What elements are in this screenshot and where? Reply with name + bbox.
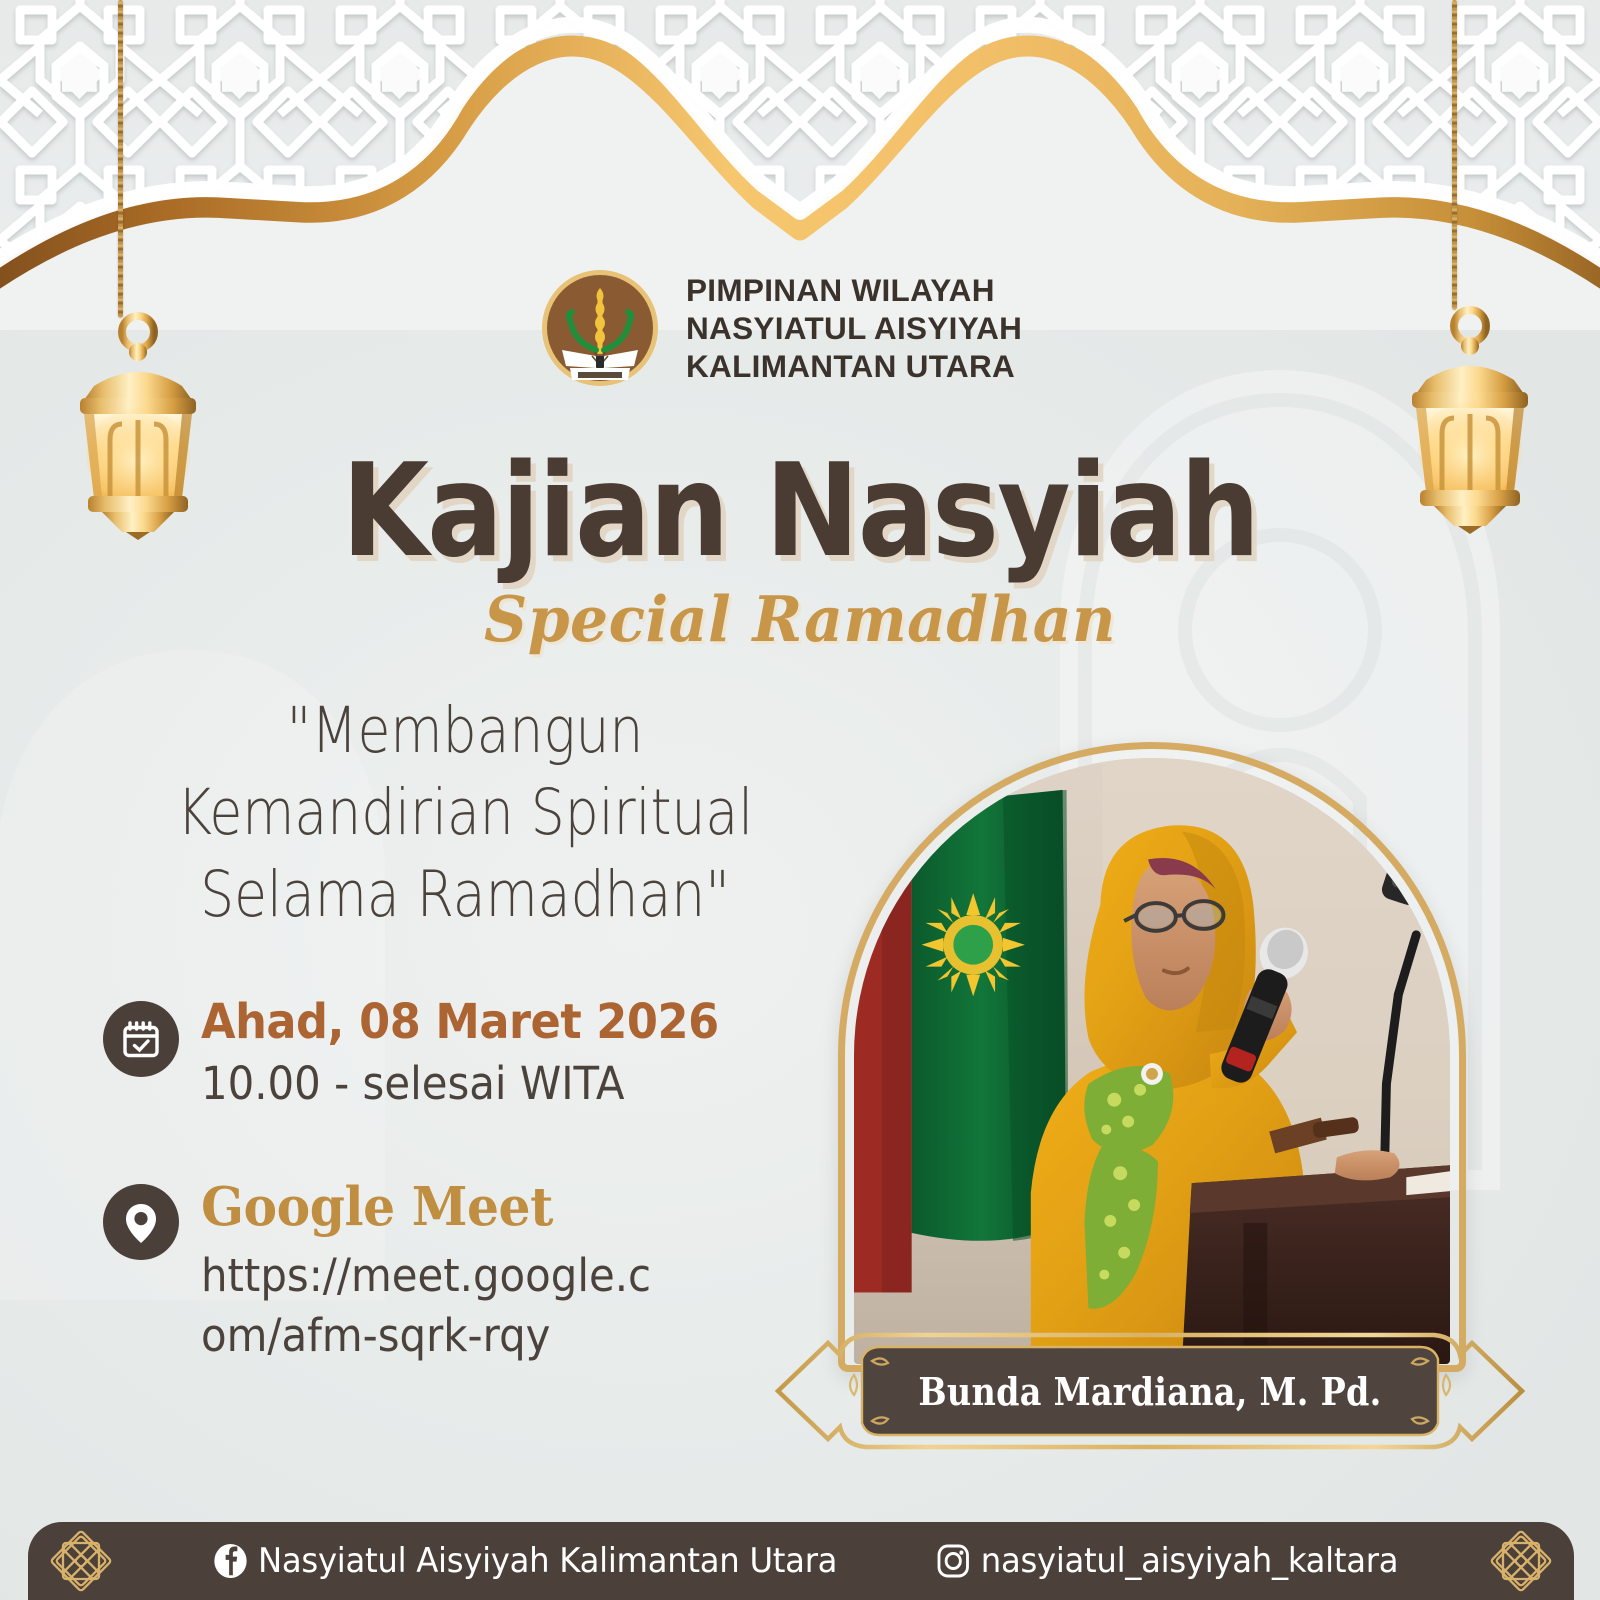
venue-text: Google Meet https://meet.google.c om/afm… [201, 1178, 685, 1367]
facebook-icon [212, 1542, 248, 1580]
organization-header: PIMPINAN WILAYAH NASYIATUL AISYIYAH KALI… [540, 268, 1022, 388]
poster-root: PIMPINAN WILAYAH NASYIATUL AISYIYAH KALI… [0, 0, 1600, 1600]
quote-line-2: Kemandirian Spiritual [121, 772, 810, 854]
headline-block: Kajian Nasyiah Special Ramadhan [0, 448, 1600, 656]
speaker-name: Bunda Mardiana, M. Pd. [816, 1325, 1485, 1457]
venue-url-line-1: https://meet.google.c [201, 1246, 651, 1307]
location-pin-icon [103, 1184, 179, 1260]
pin-glyph [121, 1199, 161, 1245]
event-theme-quote: "Membangun Kemandirian Spiritual Selama … [121, 690, 810, 936]
organization-name: PIMPINAN WILAYAH NASYIATUL AISYIYAH KALI… [686, 271, 1022, 385]
venue-row: Google Meet https://meet.google.c om/afm… [103, 1178, 803, 1367]
calendar-glyph [119, 1017, 163, 1061]
event-subtitle: Special Ramadhan [40, 582, 1560, 656]
instagram-handle: nasyiatul_aisyiyah_kaltara [980, 1541, 1397, 1581]
event-title: Kajian Nasyiah [96, 448, 1504, 576]
eight-point-rosette-right-icon [1490, 1530, 1552, 1592]
event-date: Ahad, 08 Maret 2026 [201, 997, 719, 1049]
venue-url[interactable]: https://meet.google.c om/afm-sqrk-rqy [201, 1246, 651, 1368]
venue-url-line-2: om/afm-sqrk-rqy [201, 1306, 651, 1367]
quote-line-1: "Membangun [121, 690, 810, 772]
facebook-link[interactable]: Nasyiatul Aisyiyah Kalimantan Utara [212, 1541, 837, 1581]
speaker-nameplate: Bunda Mardiana, M. Pd. [770, 1325, 1530, 1457]
event-time: 10.00 - selesai WITA [201, 1055, 719, 1114]
instagram-link[interactable]: nasyiatul_aisyiyah_kaltara [935, 1541, 1398, 1581]
calendar-check-icon [103, 1001, 179, 1077]
schedule-row: Ahad, 08 Maret 2026 10.00 - selesai WITA [103, 995, 803, 1113]
speaker-frame-border [838, 742, 1466, 1372]
nasyiatul-aisyiyah-logo-icon [540, 268, 660, 388]
venue-platform: Google Meet [201, 1180, 661, 1236]
schedule-text: Ahad, 08 Maret 2026 10.00 - selesai WITA [201, 995, 758, 1113]
footer-bar: Nasyiatul Aisyiyah Kalimantan Utara nasy… [28, 1522, 1574, 1600]
speaker-photo-frame [838, 742, 1466, 1372]
facebook-handle: Nasyiatul Aisyiyah Kalimantan Utara [258, 1541, 837, 1581]
eight-point-rosette-left-icon [50, 1530, 112, 1592]
quote-line-3: Selama Ramadhan" [121, 854, 810, 936]
instagram-icon [935, 1542, 971, 1580]
lantern-chain-left [118, 0, 123, 318]
lantern-chain-right [1452, 0, 1457, 310]
